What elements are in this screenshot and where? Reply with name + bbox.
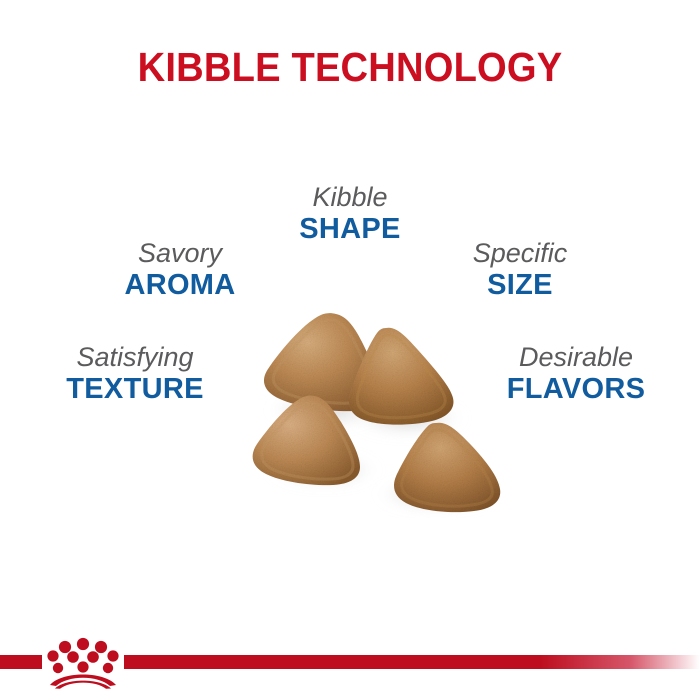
feature-savory-aroma: Savory AROMA	[90, 238, 270, 302]
feature-adjective-size: Specific	[430, 238, 610, 269]
feature-adjective-aroma: Savory	[90, 238, 270, 269]
royal-canin-crown-icon	[42, 633, 124, 689]
feature-kibble-shape: Kibble SHAPE	[250, 182, 450, 246]
footer-brand-bar	[0, 655, 700, 669]
feature-noun-shape: SHAPE	[250, 213, 450, 246]
footer-bar-right-segment	[124, 655, 700, 669]
kibble-technology-infographic: KIBBLE TECHNOLOGY Kibble SHAPE Savory AR…	[0, 0, 700, 700]
feature-satisfying-texture: Satisfying TEXTURE	[40, 342, 230, 406]
feature-adjective-shape: Kibble	[250, 182, 450, 213]
page-title: KIBBLE TECHNOLOGY	[25, 44, 676, 90]
kibble-svg	[238, 298, 518, 518]
feature-noun-texture: TEXTURE	[40, 373, 230, 406]
kibble-pieces-photo	[238, 298, 518, 518]
feature-adjective-texture: Satisfying	[40, 342, 230, 373]
feature-specific-size: Specific SIZE	[430, 238, 610, 302]
footer-bar-left-segment	[0, 655, 42, 669]
